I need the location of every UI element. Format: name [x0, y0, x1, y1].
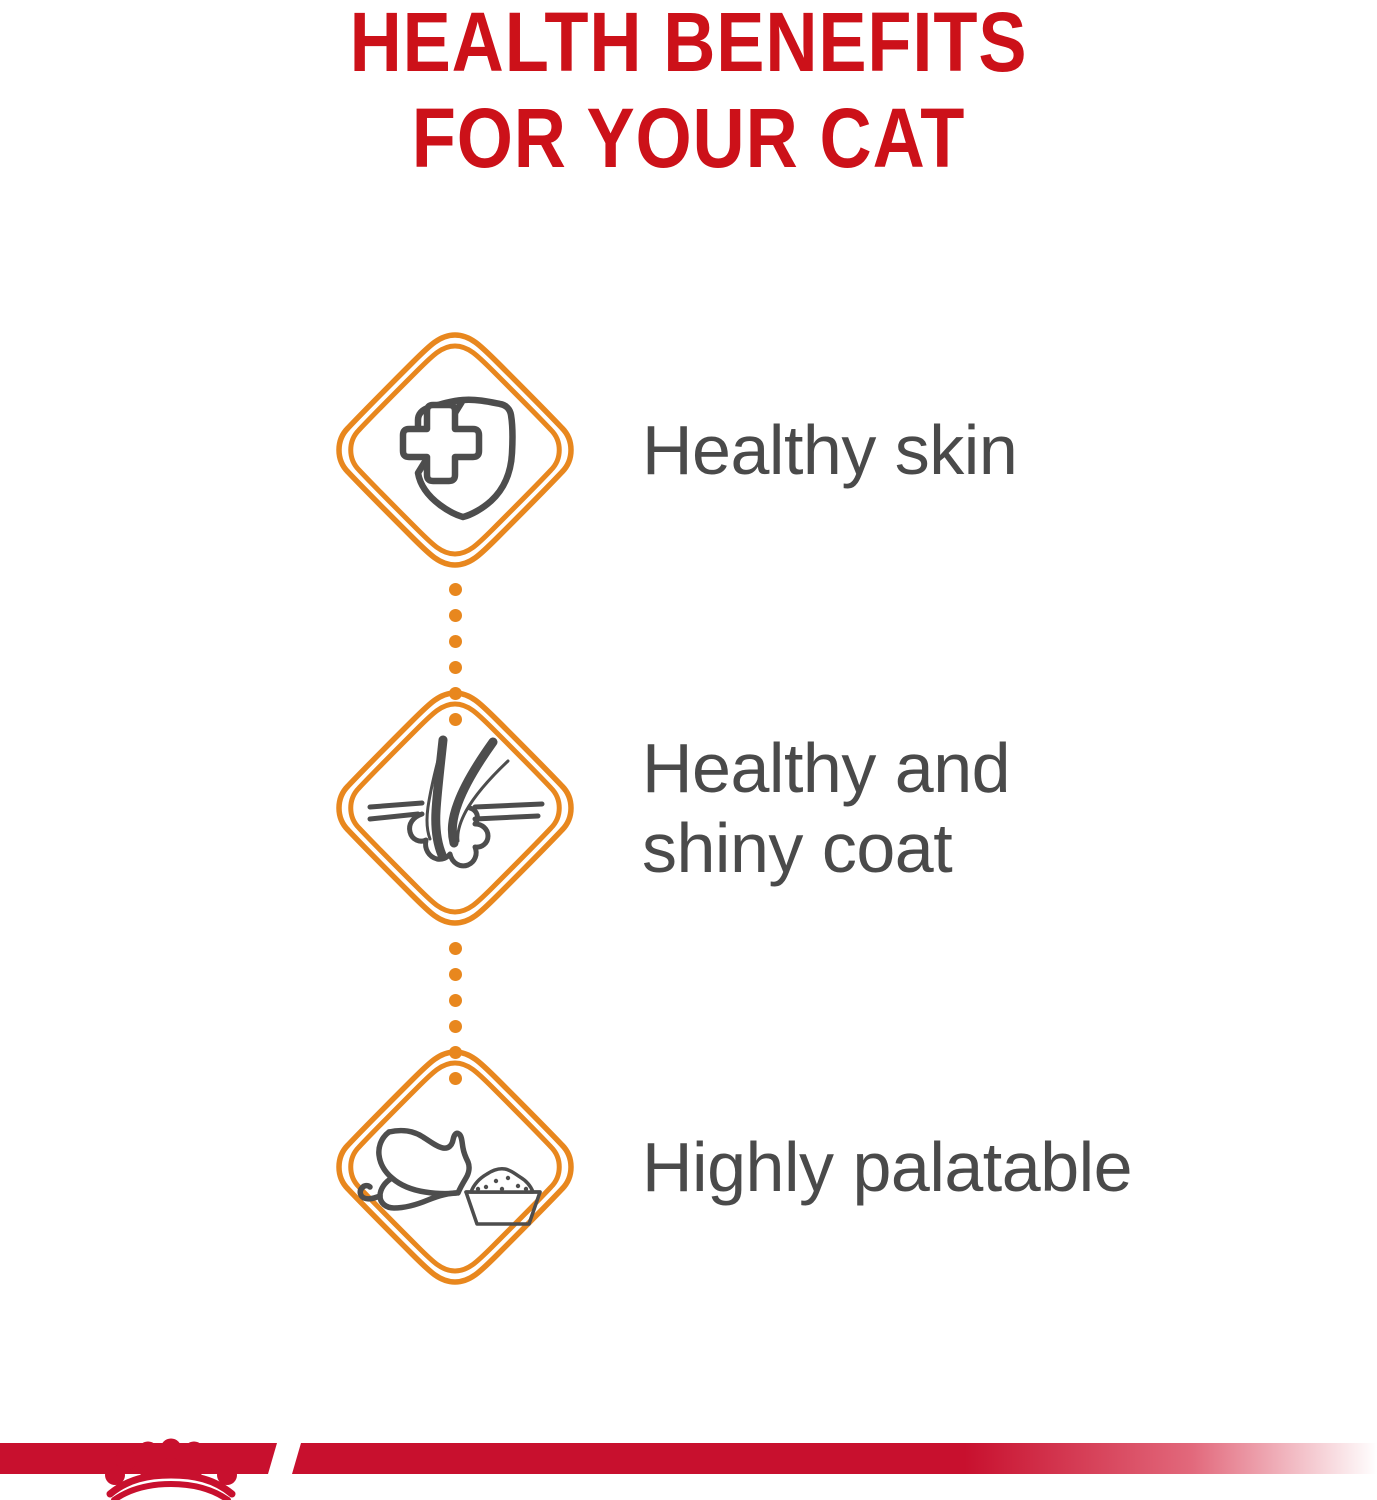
connector-dot: [449, 635, 462, 648]
hair-follicle-icon: [330, 683, 580, 933]
footer-brand-bar: [0, 1438, 1377, 1500]
royal-canin-crown-logo: [86, 1438, 256, 1500]
connector-dot: [449, 609, 462, 622]
benefit-item-healthy-skin: Healthy skin: [330, 325, 1017, 575]
connector-dot: [449, 583, 462, 596]
connector-dot: [449, 1020, 462, 1033]
benefit-item-highly-palatable: Highly palatable: [330, 1042, 1132, 1292]
footer-bar-right: [292, 1443, 1377, 1474]
connector-dot: [449, 942, 462, 955]
connector-dot: [449, 661, 462, 674]
page-title-line-1: HEALTH BENEFITS: [96, 0, 1280, 90]
benefit-label-healthy-skin: Healthy skin: [642, 410, 1017, 490]
page-title-line-2: FOR YOUR CAT: [96, 90, 1280, 186]
connector-dot: [449, 994, 462, 1007]
page-title: HEALTH BENEFITS FOR YOUR CAT: [0, 0, 1377, 186]
benefit-label-healthy-shiny-coat: Healthy and shiny coat: [642, 728, 1010, 888]
health-benefits-infographic: HEALTH BENEFITS FOR YOUR CAT Healthy ski…: [0, 0, 1377, 1500]
benefit-item-healthy-shiny-coat: Healthy and shiny coat: [330, 683, 1010, 933]
cat-eating-bowl-icon: [330, 1042, 580, 1292]
connector-dot: [449, 968, 462, 981]
shield-with-cross-icon: [330, 325, 580, 575]
benefit-label-highly-palatable: Highly palatable: [642, 1127, 1132, 1207]
